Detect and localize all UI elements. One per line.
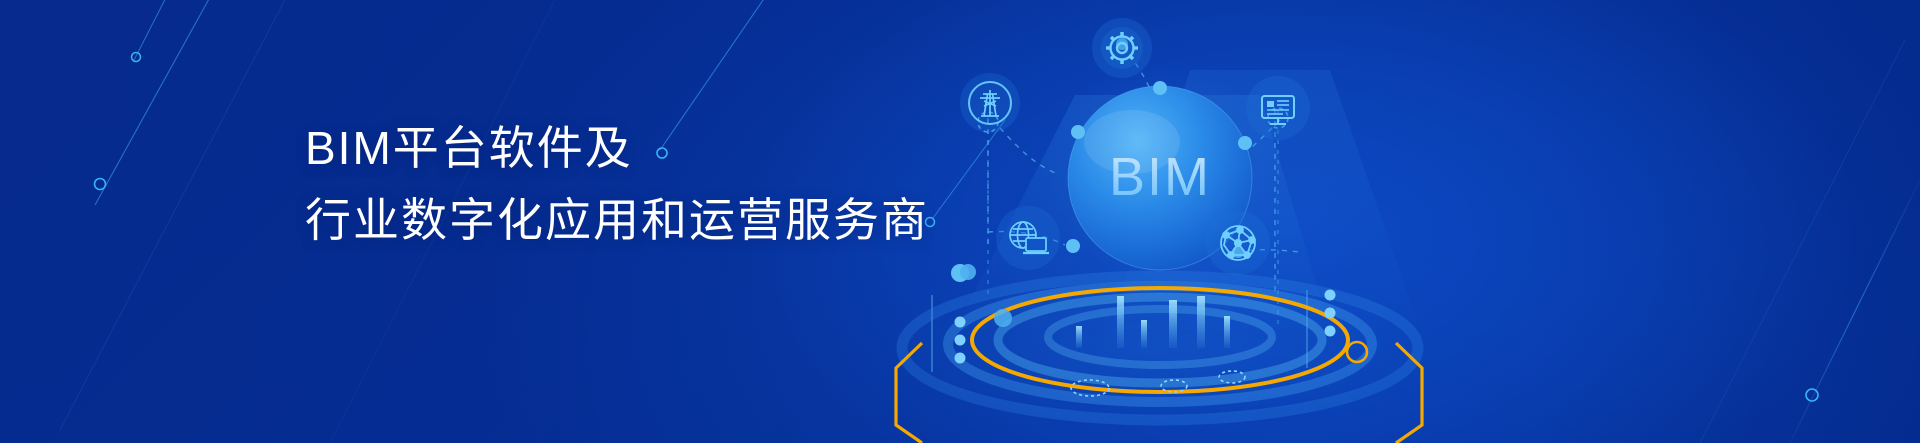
headline-line-2: 行业数字化应用和运营服务商 — [305, 184, 929, 256]
power-tower-icon-badge — [960, 73, 1020, 133]
headline-line-1: BIM平台软件及 — [305, 112, 929, 184]
dot-column-left — [955, 317, 966, 364]
dot-column-right — [1325, 290, 1336, 337]
radar-base — [892, 267, 1428, 423]
globe-laptop-icon-badge — [996, 206, 1060, 270]
banner-headline: BIM平台软件及 行业数字化应用和运营服务商 — [305, 112, 929, 256]
bim-illustration: BIM — [860, 0, 1920, 443]
bim-illustration-svg: BIM — [860, 0, 1920, 443]
hero-banner: BIM平台软件及 行业数字化应用和运营服务商 — [0, 0, 1920, 443]
network-nodes-icon-badge — [1206, 211, 1270, 275]
monitor-icon-badge — [1246, 76, 1310, 140]
sphere-label: BIM — [1109, 147, 1211, 207]
